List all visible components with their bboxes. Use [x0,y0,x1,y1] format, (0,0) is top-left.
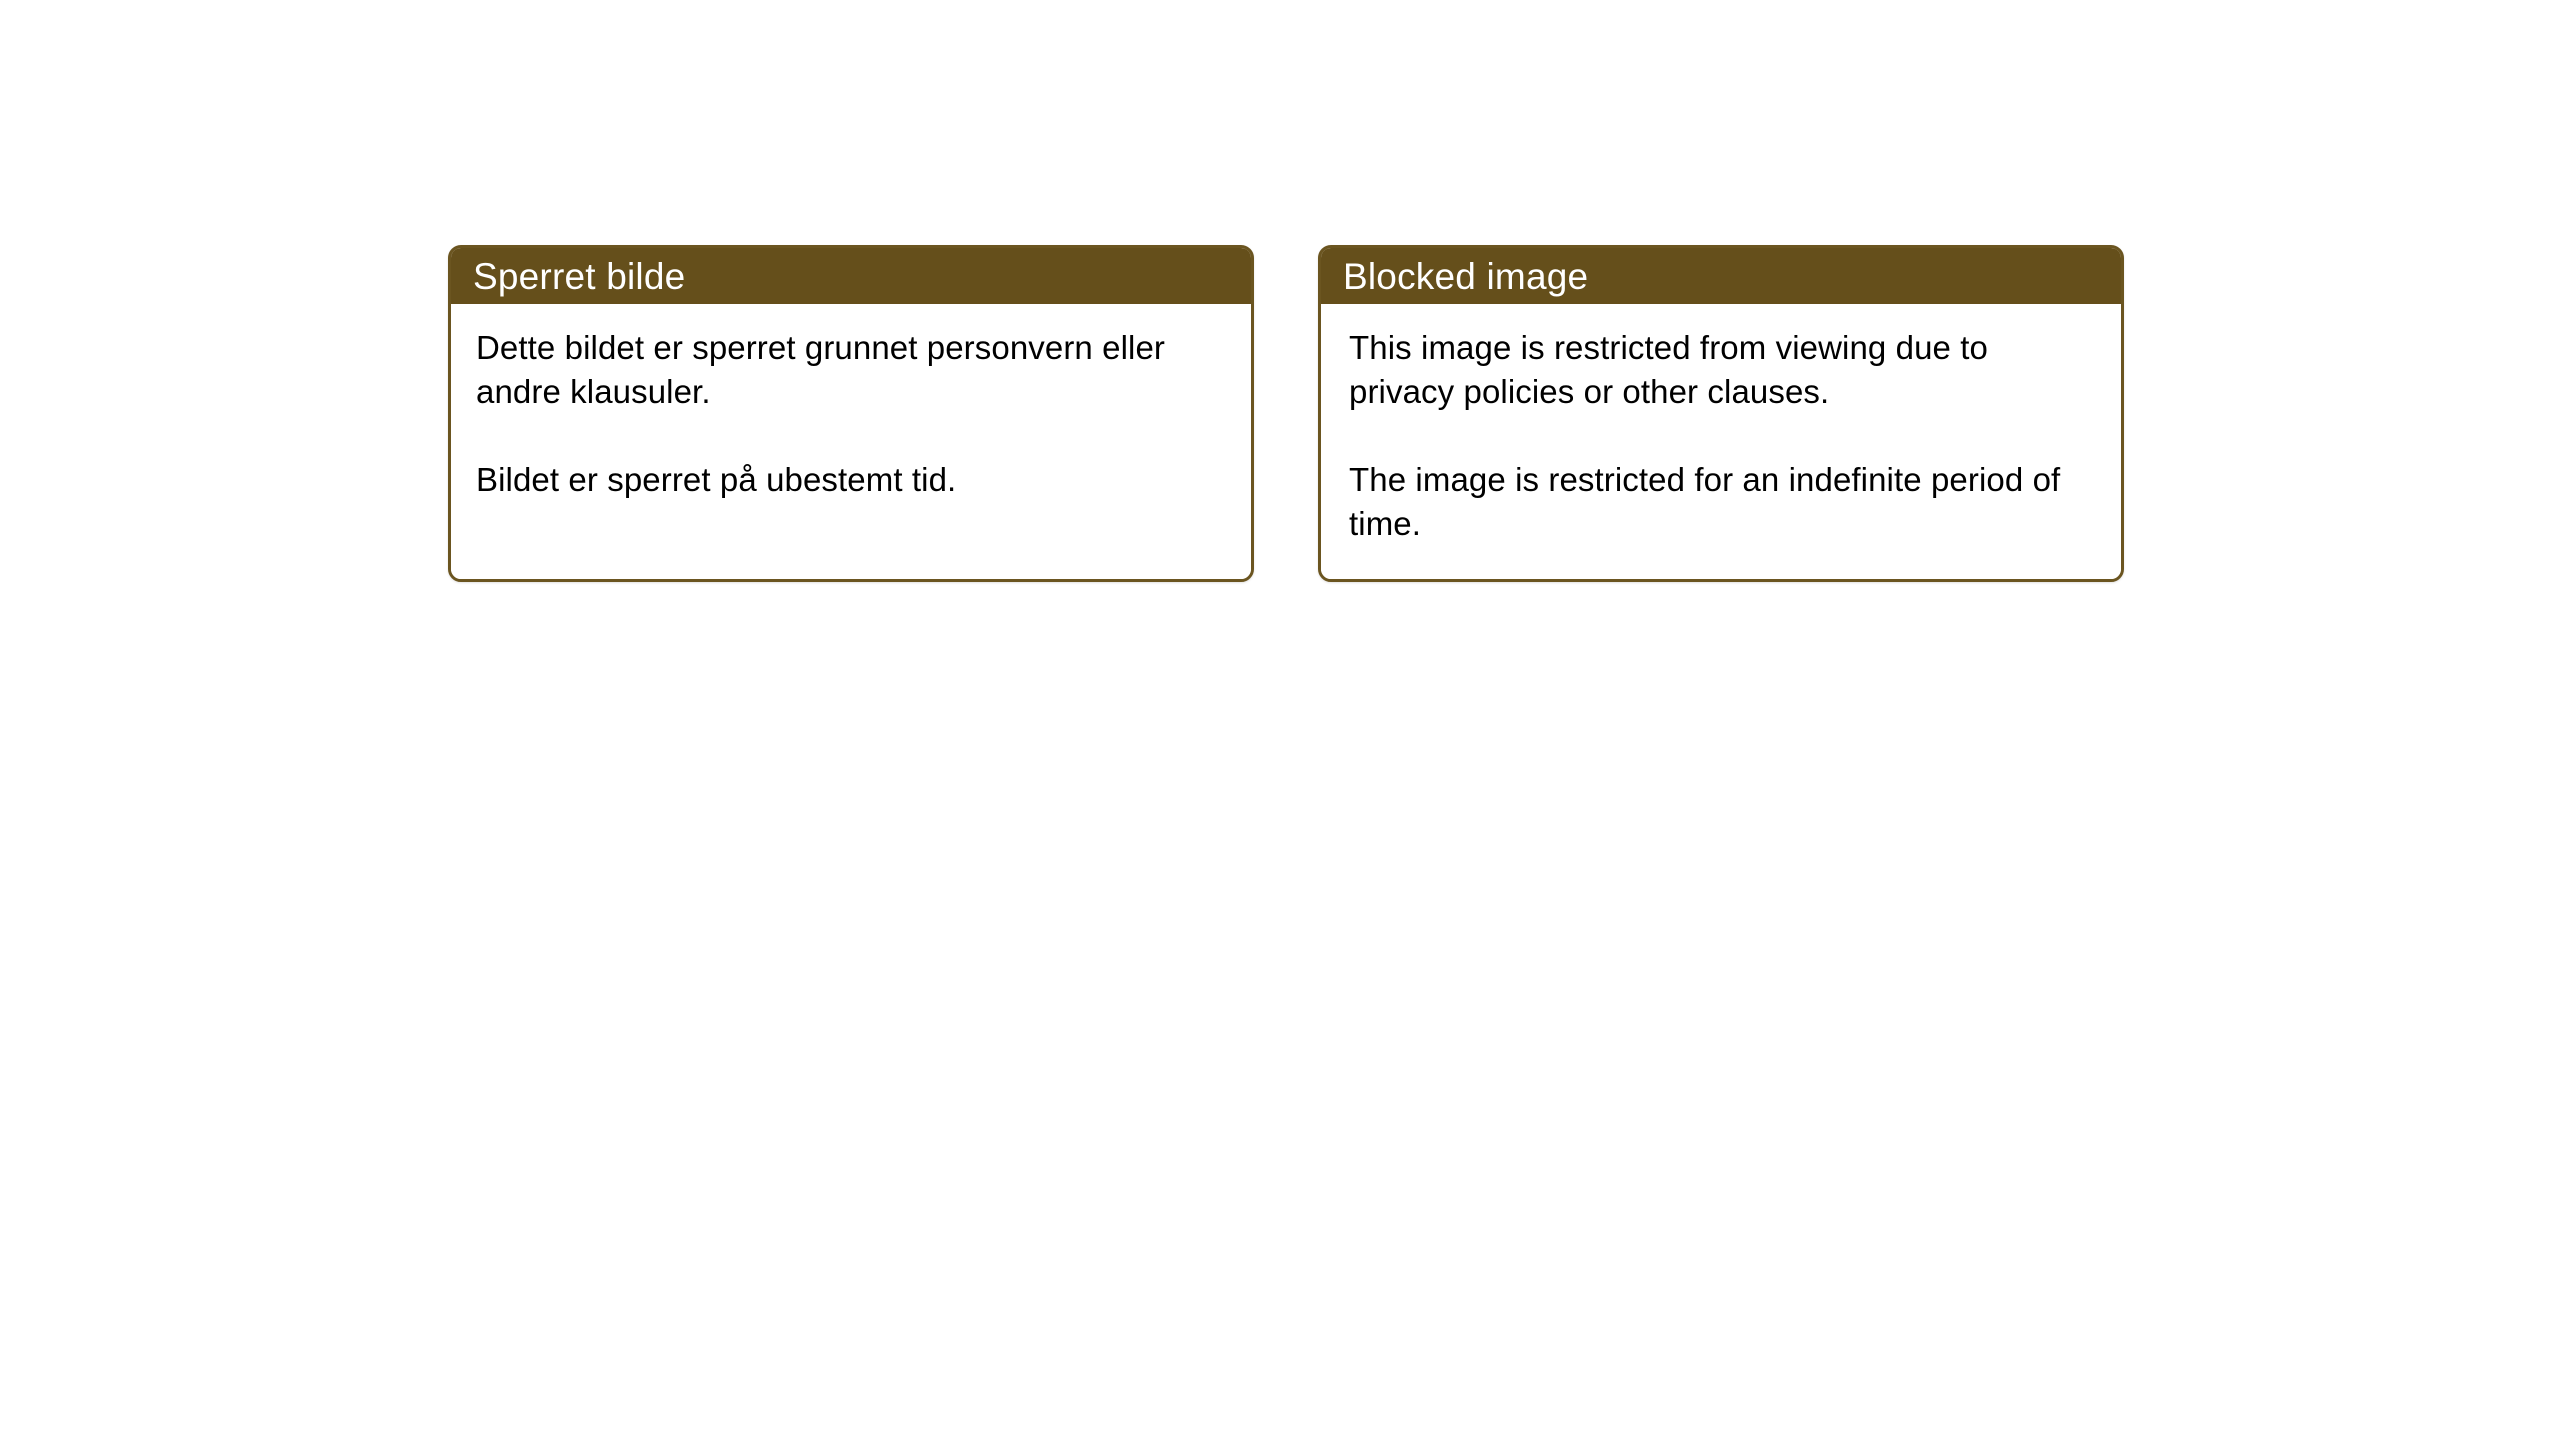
blocked-image-card-norwegian: Sperret bilde Dette bildet er sperret gr… [448,245,1254,582]
blocked-image-card-english: Blocked image This image is restricted f… [1318,245,2124,582]
card-paragraph-reason-norwegian: Dette bildet er sperret grunnet personve… [476,326,1227,414]
card-header-norwegian: Sperret bilde [451,248,1251,304]
card-title-english: Blocked image [1343,258,1588,295]
card-header-english: Blocked image [1321,248,2121,304]
page-root: Sperret bilde Dette bildet er sperret gr… [0,0,2560,1440]
card-title-norwegian: Sperret bilde [473,258,685,295]
card-paragraph-duration-english: The image is restricted for an indefinit… [1349,458,2101,546]
blocked-image-notice-group: Sperret bilde Dette bildet er sperret gr… [448,245,2124,582]
card-paragraph-reason-english: This image is restricted from viewing du… [1349,326,2101,414]
card-body-norwegian: Dette bildet er sperret grunnet personve… [451,304,1251,579]
card-paragraph-duration-norwegian: Bildet er sperret på ubestemt tid. [476,458,1227,502]
card-body-english: This image is restricted from viewing du… [1321,304,2121,579]
